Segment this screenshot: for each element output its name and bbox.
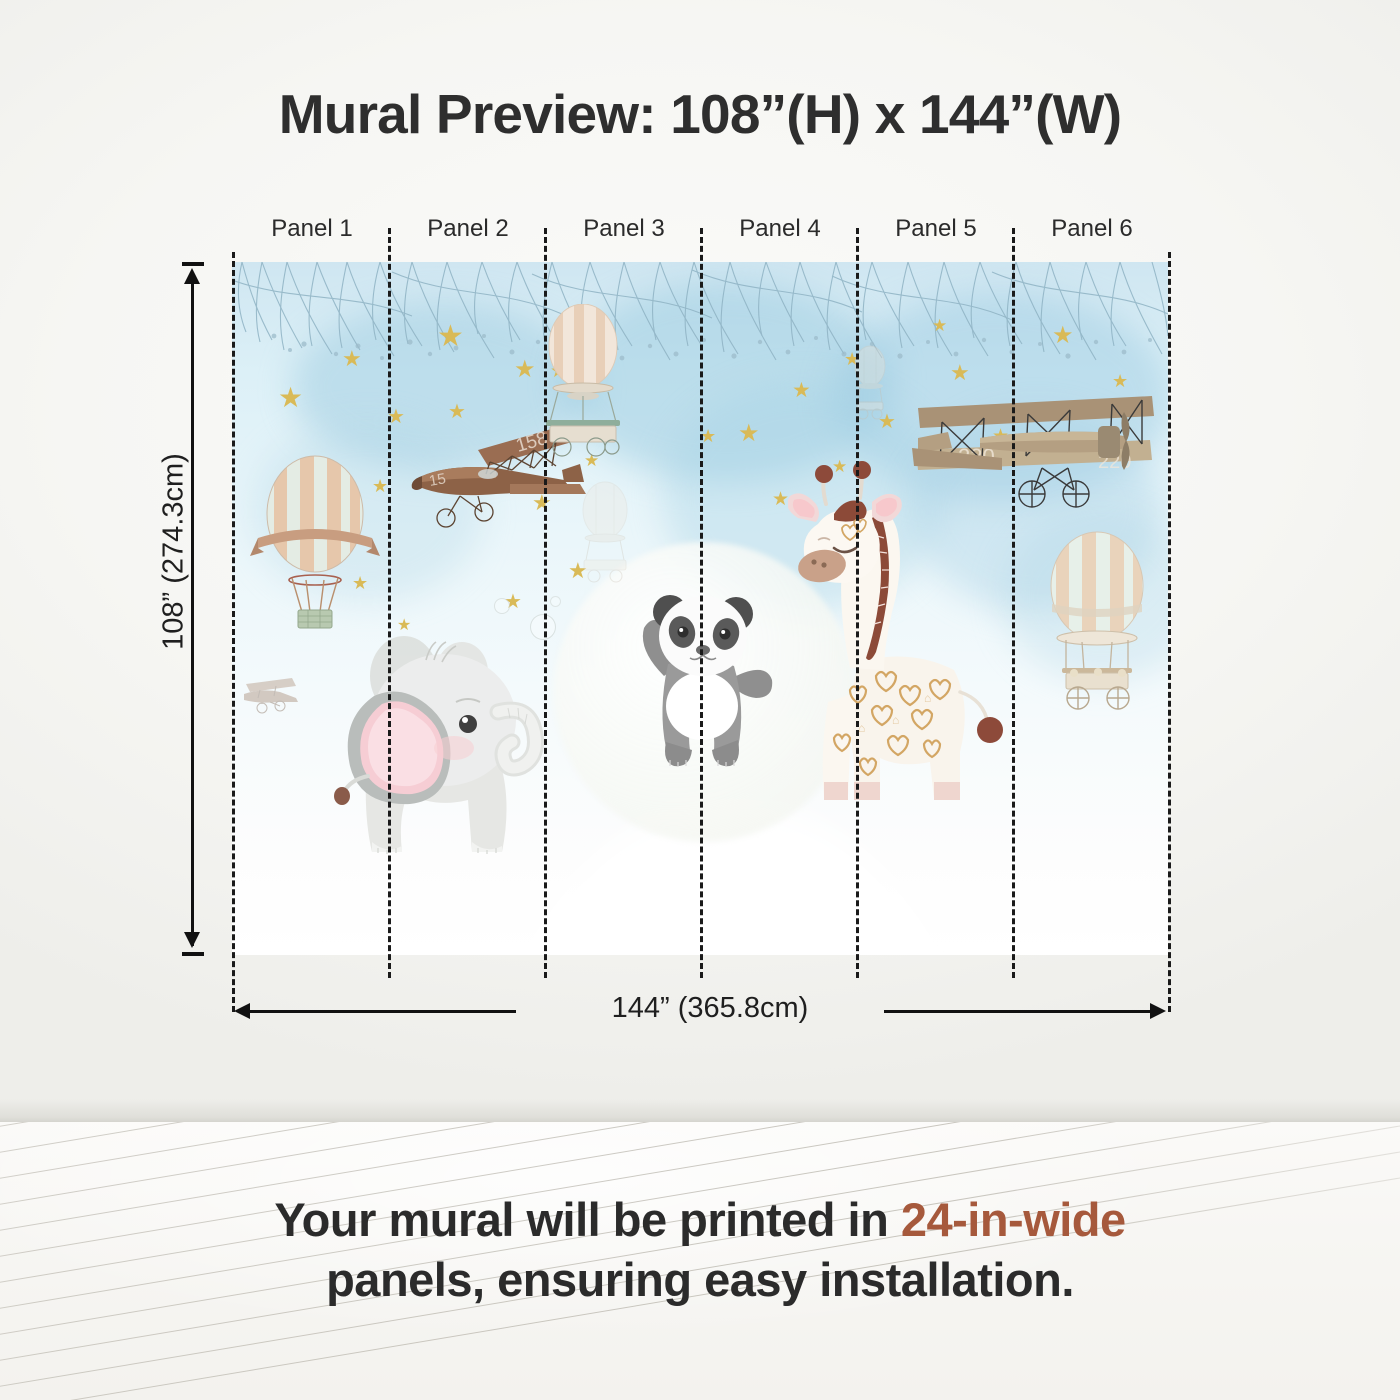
star-icon: ★: [792, 380, 811, 401]
star-icon: ★: [932, 317, 947, 334]
bubble: [550, 596, 561, 607]
hot-air-balloon-faded-icon: [570, 480, 640, 590]
biplane-220-icon: 220 220: [902, 386, 1168, 526]
panel-divider-1: [388, 228, 391, 978]
star-icon: ★: [772, 490, 789, 509]
star-icon: ★: [738, 422, 760, 446]
svg-text:15: 15: [428, 470, 447, 490]
page-title: Mural Preview: 108”(H) x 144”(W): [0, 82, 1400, 146]
caption-accent-text: 24-in-wide: [901, 1193, 1126, 1246]
hot-air-balloon-small-icon: [848, 344, 892, 422]
height-tick-bottom: [182, 952, 204, 956]
panel-divider-2: [544, 228, 547, 978]
height-arrow-shaft: [191, 272, 194, 946]
star-icon: ★: [950, 362, 970, 384]
star-icon: ★: [1052, 324, 1074, 348]
width-arrow-head-left: [234, 1003, 250, 1019]
width-arrow-shaft-right: [884, 1010, 1152, 1013]
width-arrow-head-right: [1150, 1003, 1166, 1019]
panel-divider-left-edge: [232, 252, 235, 1012]
floor-plank: [0, 1122, 1400, 1135]
svg-text:⌂: ⌂: [924, 691, 931, 705]
bubble: [530, 614, 556, 640]
panel-label-4: Panel 4: [702, 215, 858, 243]
height-arrow-head-bottom: [184, 932, 200, 948]
height-dimension-label: 108” (274.3cm): [158, 372, 191, 732]
height-arrow-head-top: [184, 268, 200, 284]
panel-label-2: Panel 2: [390, 215, 546, 243]
width-dimension-label: 144” (365.8cm): [520, 992, 900, 1025]
panel-divider-right-edge: [1168, 252, 1171, 1012]
bubble: [494, 598, 510, 614]
hot-air-balloon-right-icon: [1032, 530, 1162, 725]
panel-label-6: Panel 6: [1014, 215, 1170, 243]
caption: Your mural will be printed in 24-in-wide…: [120, 1190, 1280, 1310]
panel-label-3: Panel 3: [546, 215, 702, 243]
star-icon: ★: [342, 348, 362, 370]
svg-text:⌂: ⌂: [858, 721, 865, 735]
panel-divider-3: [700, 228, 703, 978]
caption-line1-text: Your mural will be printed in: [274, 1193, 901, 1246]
floor-plank: [0, 1122, 1400, 1187]
panel-divider-4: [856, 228, 859, 978]
svg-text:⌂: ⌂: [892, 713, 899, 727]
star-icon: ★: [437, 322, 464, 352]
panel-label-1: Panel 1: [234, 215, 390, 243]
biplane-small-icon: [240, 674, 306, 716]
caption-line2-text: panels, ensuring easy installation.: [326, 1253, 1074, 1306]
width-arrow-shaft-left: [248, 1010, 516, 1013]
panel-label-5: Panel 5: [858, 215, 1014, 243]
star-icon: ★: [278, 384, 303, 412]
height-tick-top: [182, 262, 204, 266]
panel-divider-5: [1012, 228, 1015, 978]
